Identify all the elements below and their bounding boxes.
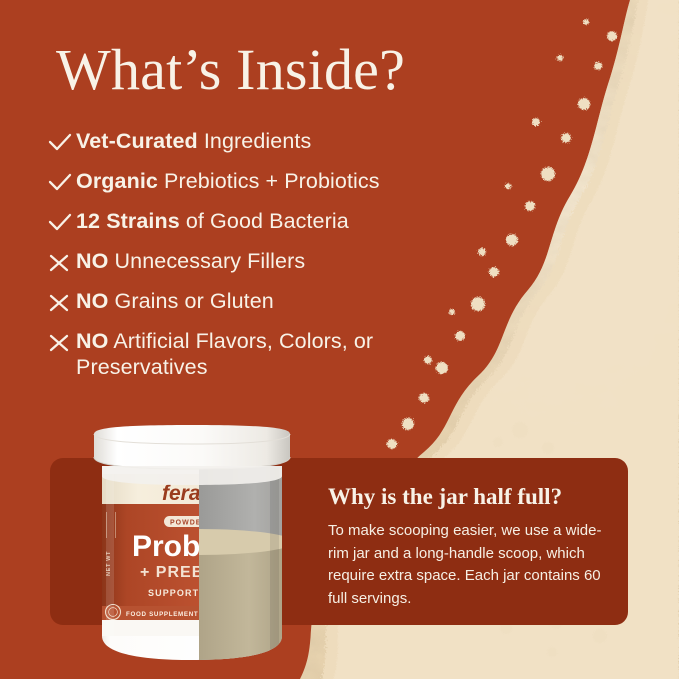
list-item-bold: 12 Strains	[76, 209, 180, 233]
product-jar-image: fera POWDER Probiotic + PREBIOTIC SUPPOR…	[88, 424, 310, 664]
info-card-body: To make scooping easier, we use a wide-r…	[328, 520, 603, 610]
list-item-bold: Organic	[76, 169, 158, 193]
list-item-bold: NO	[76, 249, 108, 273]
list-item: NO Unnecessary Fillers	[46, 248, 476, 277]
list-item-text: NO Unnecessary Fillers	[76, 248, 305, 274]
list-item: NO Artificial Flavors, Colors, or Preser…	[46, 328, 476, 380]
list-item-rest: Artificial Flavors, Colors, or Preservat…	[76, 329, 373, 379]
list-item-text: 12 Strains of Good Bacteria	[76, 208, 349, 234]
list-item-rest: of Good Bacteria	[180, 209, 349, 233]
list-item-rest: Unnecessary Fillers	[108, 249, 305, 273]
cross-icon	[46, 249, 76, 277]
jar-brand-text: fera	[162, 482, 201, 505]
list-item-rest: Ingredients	[198, 129, 312, 153]
jar-lid	[94, 425, 290, 469]
check-icon	[46, 169, 76, 197]
list-item-text: NO Grains or Gluten	[76, 288, 274, 314]
list-item: Vet-Curated Ingredients	[46, 128, 476, 157]
list-item: Organic Prebiotics + Probiotics	[46, 168, 476, 197]
cross-icon	[46, 289, 76, 317]
check-icon	[46, 209, 76, 237]
list-item-bold: NO	[76, 289, 108, 313]
benefits-list: Vet-Curated Ingredients Organic Prebioti…	[46, 128, 476, 391]
list-item-text: Organic Prebiotics + Probiotics	[76, 168, 380, 194]
list-item: 12 Strains of Good Bacteria	[46, 208, 476, 237]
promo-graphic: What’s Inside? Vet-Curated Ingredients O…	[0, 0, 679, 679]
page-title: What’s Inside?	[56, 41, 405, 99]
list-item-bold: Vet-Curated	[76, 129, 198, 153]
list-item-text: Vet-Curated Ingredients	[76, 128, 311, 154]
list-item-text: NO Artificial Flavors, Colors, or Preser…	[76, 328, 406, 380]
list-item: NO Grains or Gluten	[46, 288, 476, 317]
list-item-bold: NO	[76, 329, 108, 353]
cross-icon	[46, 329, 76, 357]
list-item-rest: Grains or Gluten	[108, 289, 273, 313]
list-item-rest: Prebiotics + Probiotics	[158, 169, 380, 193]
info-card-heading: Why is the jar half full?	[328, 484, 562, 510]
check-icon	[46, 129, 76, 157]
